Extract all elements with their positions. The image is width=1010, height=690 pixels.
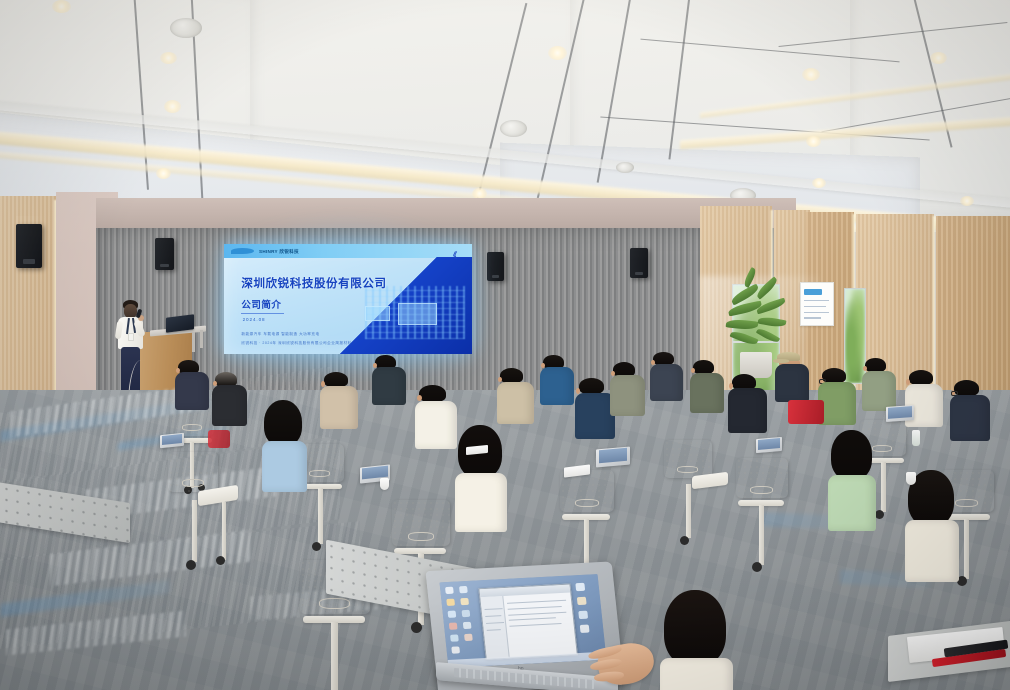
attendee-hair (831, 430, 872, 480)
attendee-torso (950, 395, 990, 441)
attendee-hair (324, 372, 348, 387)
attendee (905, 470, 965, 580)
attendee-torso (212, 385, 247, 426)
ceiling-downlight (156, 168, 171, 179)
ceiling-downlight (960, 196, 974, 206)
poster-line (804, 306, 826, 308)
attendee-hair (419, 385, 446, 402)
poster-line (804, 300, 830, 302)
slide-arrow-mark: 《 (449, 250, 457, 261)
slide-footnote: 欣锐科技 · 2024年 深圳欣锐科技股份有限公司企业简报材料 (241, 341, 351, 346)
poster-line (804, 312, 829, 314)
attendee-torso (610, 375, 645, 416)
ceiling-downlight (52, 0, 71, 13)
desktop-icon[interactable] (450, 634, 459, 641)
attendee (690, 360, 733, 430)
desktop-icon[interactable] (462, 610, 471, 617)
podium-leg (200, 330, 203, 348)
wall-speaker-left-inner (155, 238, 174, 270)
attendee (497, 368, 542, 443)
attendee-torso (690, 373, 724, 413)
desktop-icon[interactable] (577, 597, 587, 605)
attendee-torso (175, 372, 209, 410)
water-cup[interactable] (380, 478, 389, 490)
attendee-hair (264, 400, 302, 446)
chair[interactable] (168, 452, 238, 582)
ceiling-speaker (500, 120, 527, 137)
attendee (828, 430, 883, 529)
attendee-torso (660, 658, 733, 690)
slide-graphic-detail (365, 306, 390, 321)
poster-header (804, 289, 823, 295)
attendee-torso (575, 393, 615, 439)
ceiling-downlight (812, 178, 826, 188)
desktop-icon[interactable] (464, 634, 473, 641)
attendee (372, 355, 415, 423)
attendee-torso (728, 388, 767, 433)
red-bag (788, 400, 824, 424)
ceiling-downlight (164, 100, 181, 113)
podium-leg (192, 332, 195, 352)
attendee (320, 372, 366, 449)
attendee (262, 400, 314, 490)
desktop-icon[interactable] (459, 586, 468, 593)
desktop-icon[interactable] (446, 599, 455, 606)
attendee-torso (497, 382, 534, 424)
slide-logo-text: SHINRY 欣锐科技 (259, 248, 299, 254)
red-bag (208, 430, 230, 448)
chair[interactable] (664, 440, 730, 558)
notice-poster (800, 282, 834, 326)
slide-divider (241, 313, 283, 314)
ceiling-downlight (806, 136, 821, 147)
attendee-torso (540, 367, 574, 405)
attendee (950, 380, 998, 461)
attendee-torso (650, 364, 683, 401)
poster-line (804, 317, 822, 319)
attendee-torso (905, 520, 959, 582)
attendee-hair (909, 370, 933, 385)
attendee-laptop[interactable] (756, 437, 782, 453)
attendee-torso (775, 364, 809, 402)
attendee (660, 590, 736, 690)
attendee (650, 352, 692, 418)
desktop-icon[interactable] (575, 583, 585, 591)
desktop-icon[interactable] (448, 611, 457, 618)
conference-room-photo: SHINRY 欣锐科技 《 深圳欣锐科技股份有限公司 公司简介 2024.08 … (0, 0, 1010, 690)
water-bottle[interactable] (912, 430, 920, 446)
attendee-torso (455, 473, 507, 532)
attendee-ear (498, 377, 502, 382)
attendee (610, 362, 654, 435)
ceiling-downlight (548, 46, 567, 60)
attendee-torso (372, 367, 406, 405)
attendee-torso (320, 386, 358, 429)
desktop-icon[interactable] (580, 625, 590, 633)
attendee-hair (500, 368, 523, 383)
desktop-icon[interactable] (460, 598, 469, 605)
desktop-icon[interactable] (451, 646, 460, 653)
desktop-icon[interactable] (463, 622, 472, 629)
chair[interactable] (736, 458, 806, 584)
laptop-screen[interactable] (440, 574, 607, 668)
ceiling-speaker (616, 162, 634, 173)
ceiling-speaker (170, 18, 202, 38)
ceiling-downlight (930, 52, 947, 64)
ceiling-downlight (160, 52, 177, 64)
attendee-ear (691, 368, 695, 373)
attendee-hair (579, 378, 604, 394)
presenter-badge (128, 333, 134, 341)
slide-title: 深圳欣锐科技股份有限公司 (241, 275, 386, 291)
foreground-laptop[interactable]: hp (432, 566, 618, 690)
desktop-icon[interactable] (445, 587, 454, 594)
attendee-hair (664, 590, 726, 666)
desktop-icon[interactable] (578, 611, 588, 619)
slide-graphic-detail (398, 303, 438, 325)
desktop-icon[interactable] (449, 622, 458, 629)
attendee-torso (862, 371, 896, 411)
wall-speaker-left-outer (16, 224, 42, 268)
open-application-window[interactable] (478, 584, 578, 660)
attendee-hair (693, 360, 714, 374)
attendee-torso (262, 441, 307, 492)
attendee-ear (863, 366, 867, 371)
attendee-laptop[interactable] (886, 405, 914, 422)
attendee-ear (417, 395, 422, 401)
projection-screen[interactable]: SHINRY 欣锐科技 《 深圳欣锐科技股份有限公司 公司简介 2024.08 … (224, 244, 472, 354)
window-sidebar[interactable] (480, 596, 510, 658)
cap-brim (773, 359, 789, 363)
shinry-logo-icon (231, 248, 253, 254)
slide-keywords: 新能源汽车 车载电源 智能制造 大功率充电 (241, 332, 319, 337)
attendee-hair (865, 358, 886, 372)
water-cup[interactable] (906, 472, 916, 485)
slide-date: 2024.08 (243, 317, 266, 322)
ceiling-downlight (802, 68, 820, 81)
slide-subtitle: 公司简介 (241, 297, 281, 311)
attendee-laptop[interactable] (596, 447, 630, 468)
attendee-torso (415, 401, 457, 449)
attendee-laptop[interactable] (160, 433, 184, 449)
attendee-torso (828, 475, 876, 531)
wall-speaker-right-outer (630, 248, 648, 278)
slide-logo-bar: SHINRY 欣锐科技 (224, 244, 472, 258)
